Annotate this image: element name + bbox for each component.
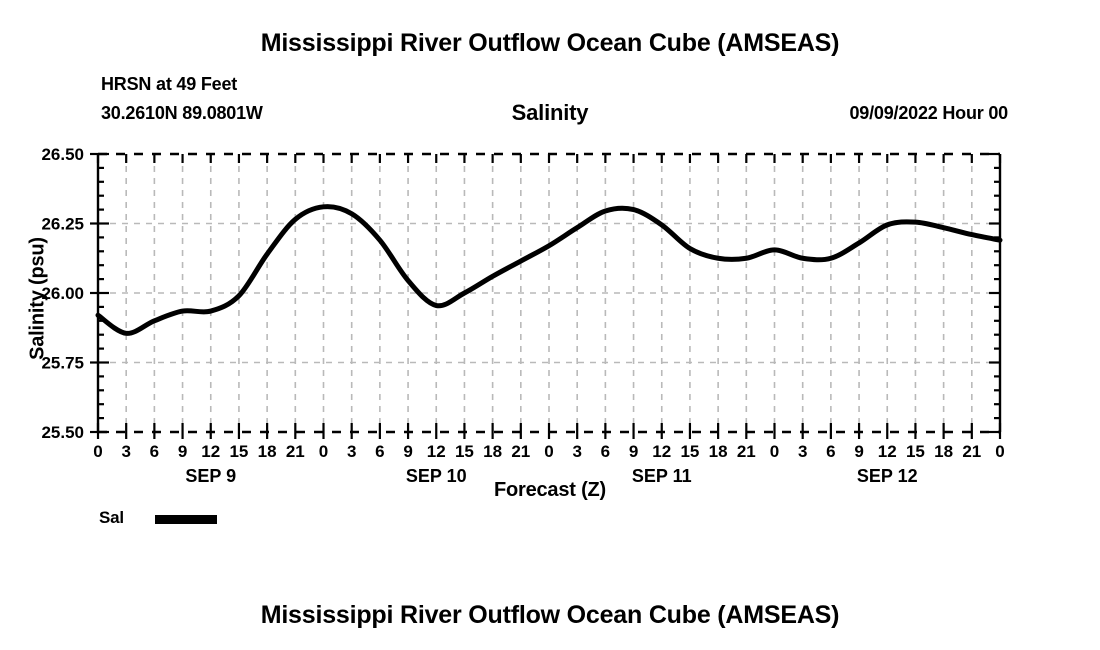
x-tick-label: 18 [258, 442, 277, 461]
x-tick-label: 9 [178, 442, 187, 461]
x-tick-label: 18 [483, 442, 502, 461]
page-title-bottom: Mississippi River Outflow Ocean Cube (AM… [0, 601, 1100, 630]
x-tick-label: 21 [511, 442, 530, 461]
x-tick-label: 15 [455, 442, 474, 461]
y-tick-label: 26.25 [41, 215, 84, 234]
x-tick-label: 12 [652, 442, 671, 461]
x-tick-label: 3 [121, 442, 130, 461]
y-tick-label: 26.00 [41, 284, 84, 303]
day-label: SEP 10 [406, 466, 467, 486]
legend-line-swatch [155, 515, 217, 524]
y-tick-labels: 26.5026.2526.0025.7525.50 [41, 145, 84, 442]
x-tick-label: 12 [201, 442, 220, 461]
day-label: SEP 11 [632, 466, 692, 486]
x-tick-label: 3 [798, 442, 807, 461]
x-tick-label: 0 [544, 442, 553, 461]
salinity-line-chart: 26.5026.2526.0025.7525.50 03691215182103… [0, 0, 1100, 650]
x-tick-label: 9 [403, 442, 412, 461]
x-tick-label: 6 [375, 442, 384, 461]
y-tick-label: 25.50 [41, 423, 84, 442]
x-tick-label: 9 [854, 442, 863, 461]
x-tick-label: 12 [878, 442, 897, 461]
x-tick-label: 0 [770, 442, 779, 461]
x-tick-label: 0 [93, 442, 102, 461]
x-tick-label: 12 [427, 442, 446, 461]
x-tick-label: 15 [680, 442, 699, 461]
axis-ticks [90, 154, 1000, 439]
x-tick-labels: 0369121518210369121518210369121518210369… [93, 442, 1004, 461]
chart-page: Mississippi River Outflow Ocean Cube (AM… [0, 0, 1100, 650]
day-label: SEP 9 [185, 466, 236, 486]
x-tick-label: 3 [347, 442, 356, 461]
x-tick-label: 3 [572, 442, 581, 461]
y-tick-label: 25.75 [41, 354, 84, 373]
y-tick-label: 26.50 [41, 145, 84, 164]
x-tick-label: 15 [229, 442, 248, 461]
x-tick-label: 18 [934, 442, 953, 461]
x-tick-label: 21 [962, 442, 981, 461]
x-tick-label: 21 [737, 442, 756, 461]
x-tick-label: 0 [995, 442, 1004, 461]
x-tick-label: 0 [319, 442, 328, 461]
gridlines [98, 154, 1000, 432]
x-tick-label: 21 [286, 442, 305, 461]
legend-label: Sal [99, 508, 124, 528]
x-tick-label: 6 [601, 442, 610, 461]
x-tick-label: 15 [906, 442, 925, 461]
x-tick-label: 6 [826, 442, 835, 461]
x-tick-label: 18 [709, 442, 728, 461]
day-label: SEP 12 [857, 466, 918, 486]
day-labels: SEP 9SEP 10SEP 11SEP 12 [185, 466, 917, 486]
x-tick-label: 9 [629, 442, 638, 461]
x-tick-label: 6 [150, 442, 159, 461]
